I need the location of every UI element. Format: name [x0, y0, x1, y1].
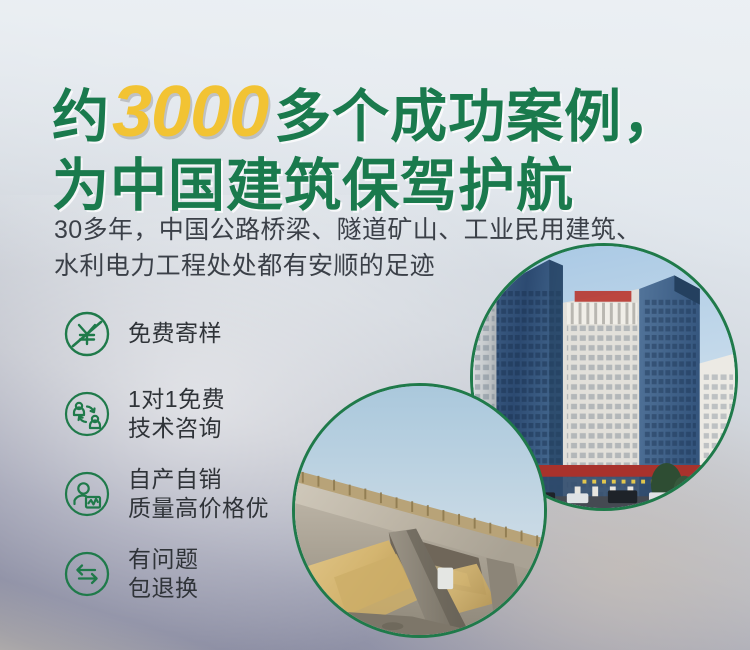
headline-suffix: 多个成功案例，: [274, 85, 680, 149]
feature-label-consulting: 1对1免费 技术咨询: [128, 385, 225, 444]
feature-item-consulting[interactable]: 1对1免费 技术咨询: [62, 376, 322, 452]
page-title: 约3000多个成功案例， 为中国建筑保驾护航: [52, 76, 680, 215]
feature-label-line-1: 自产自销: [128, 465, 269, 494]
promo-banner: 约3000多个成功案例， 为中国建筑保驾护航 30多年，中国公路桥梁、隧道矿山、…: [0, 0, 750, 650]
bridge-photo: [292, 383, 547, 638]
feature-item-free-sample[interactable]: 免费寄样: [62, 296, 322, 372]
return-exchange-icon: [62, 549, 112, 599]
feature-label-line-1: 免费寄样: [128, 319, 222, 348]
feature-label-line-1: 有问题: [128, 545, 199, 574]
subtitle: 30多年，中国公路桥梁、隧道矿山、工业民用建筑、 水利电力工程处处都有安顺的足迹: [54, 212, 641, 284]
self-production-icon: [62, 469, 112, 519]
feature-label-self-production: 自产自销 质量高价格优: [128, 465, 269, 524]
headline-number: 3000: [110, 72, 274, 152]
headline-line-2: 为中国建筑保驾护航: [52, 158, 680, 215]
headline-line-1: 约3000多个成功案例，: [52, 76, 680, 148]
feature-label-line-2: 包退换: [128, 574, 199, 603]
subtitle-line-2: 水利电力工程处处都有安顺的足迹: [54, 248, 641, 284]
feature-label-free-sample: 免费寄样: [128, 319, 222, 348]
feature-label-line-2: 技术咨询: [128, 414, 225, 443]
feature-label-line-2: 质量高价格优: [128, 494, 269, 523]
headline-prefix: 约: [52, 85, 110, 149]
feature-label-line-1: 1对1免费: [128, 385, 225, 414]
feature-label-return-exchange: 有问题 包退换: [128, 545, 199, 604]
one-on-one-consult-icon: [62, 389, 112, 439]
subtitle-line-1: 30多年，中国公路桥梁、隧道矿山、工业民用建筑、: [54, 212, 641, 248]
feature-item-self-production[interactable]: 自产自销 质量高价格优: [62, 456, 322, 532]
free-sample-icon: [62, 309, 112, 359]
feature-item-return-exchange[interactable]: 有问题 包退换: [62, 536, 322, 612]
feature-list: 免费寄样 1对1免费 技术咨询: [62, 296, 322, 616]
